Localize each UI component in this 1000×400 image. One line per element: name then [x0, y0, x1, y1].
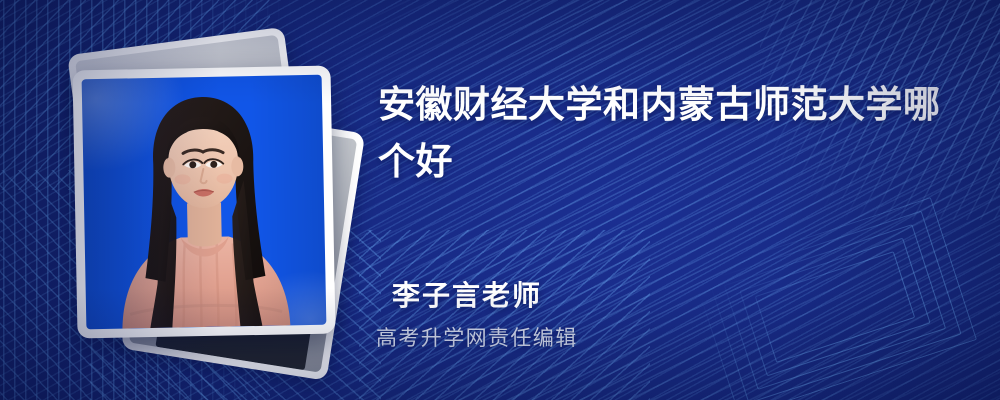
author-role: 高考升学网责任编辑 — [376, 322, 578, 352]
page-title: 安徽财经大学和内蒙古师范大学哪个好 — [378, 76, 968, 190]
article-header-banner: 安徽财经大学和内蒙古师范大学哪个好 李子言老师 高考升学网责任编辑 — [0, 0, 1000, 400]
author-portrait-photo — [82, 75, 327, 330]
front-photo-card — [72, 66, 335, 339]
avatar — [82, 75, 327, 330]
author-name: 李子言老师 — [392, 274, 542, 314]
photo-card-stack — [55, 40, 355, 360]
